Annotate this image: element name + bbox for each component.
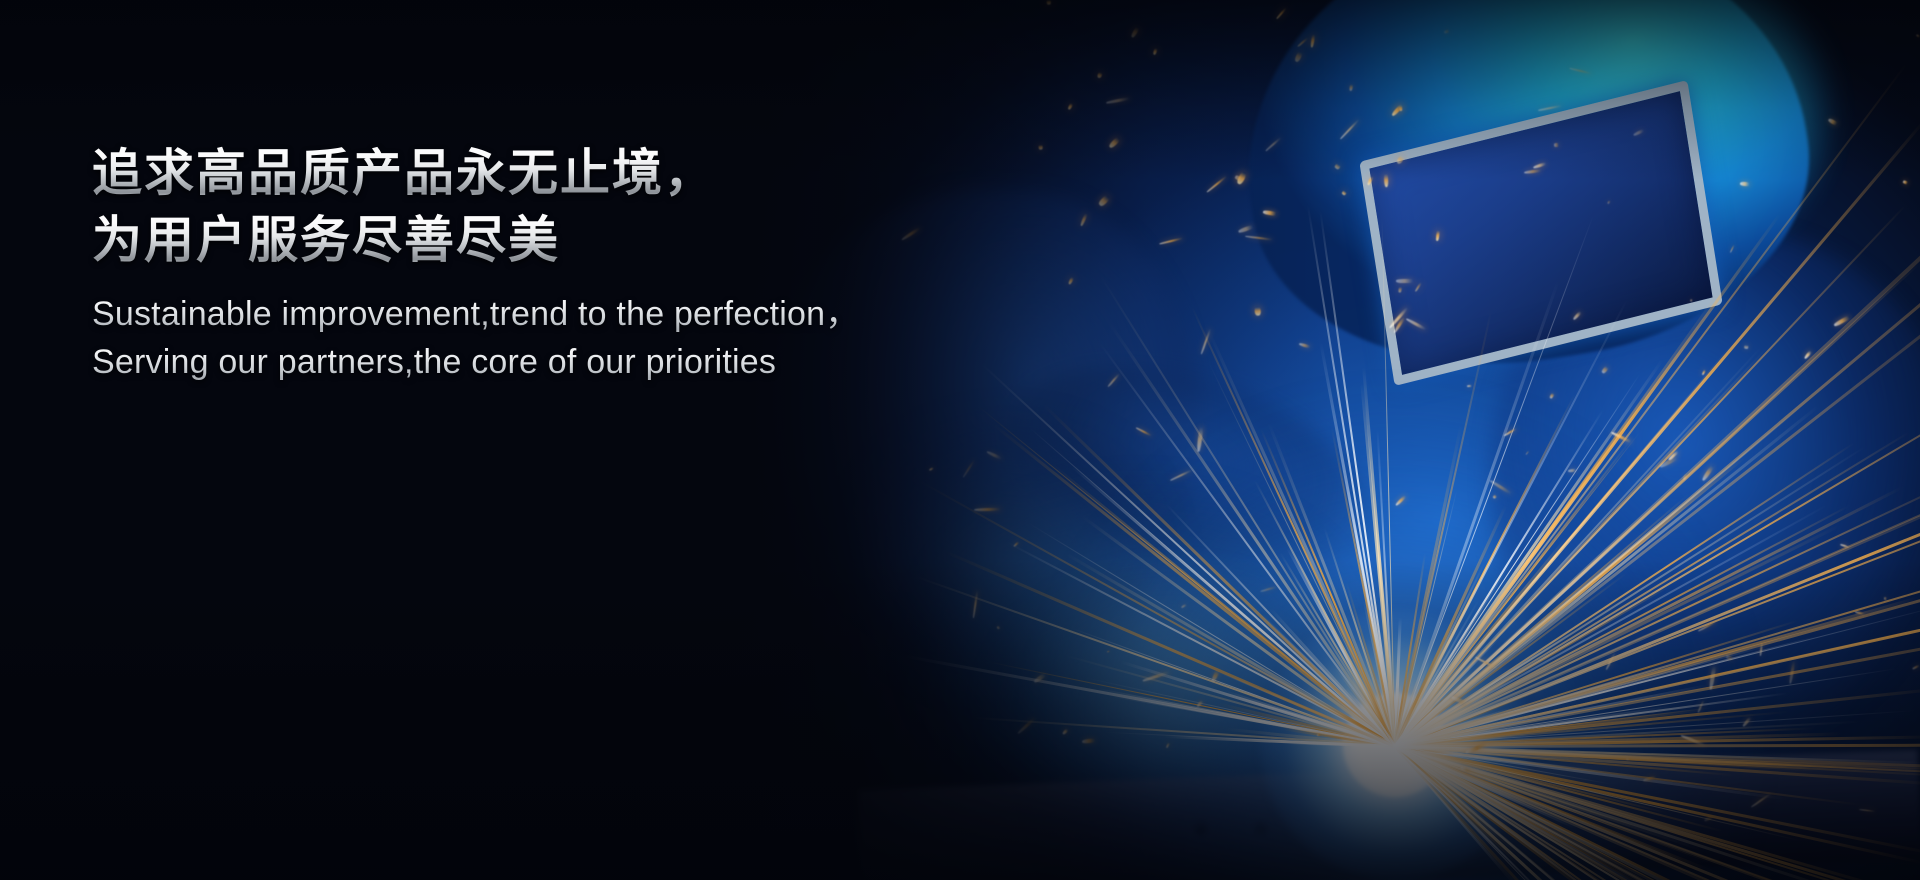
subtitle-en-line-2: Serving our partners,the core of our pri… (92, 338, 992, 386)
headline-cn-line-1: 追求高品质产品永无止境， (92, 140, 992, 207)
welding-hero-banner: 追求高品质产品永无止境， 为用户服务尽善尽美 Sustainable impro… (0, 0, 1920, 880)
banner-copy: 追求高品质产品永无止境， 为用户服务尽善尽美 Sustainable impro… (92, 140, 992, 387)
bottom-vignette (0, 560, 1920, 880)
headline-cn-line-2: 为用户服务尽善尽美 (92, 207, 992, 274)
subtitle-en-line-1: Sustainable improvement,trend to the per… (92, 290, 992, 338)
subtitle-en-block: Sustainable improvement,trend to the per… (92, 290, 992, 387)
banner-background-photo (0, 0, 1920, 880)
